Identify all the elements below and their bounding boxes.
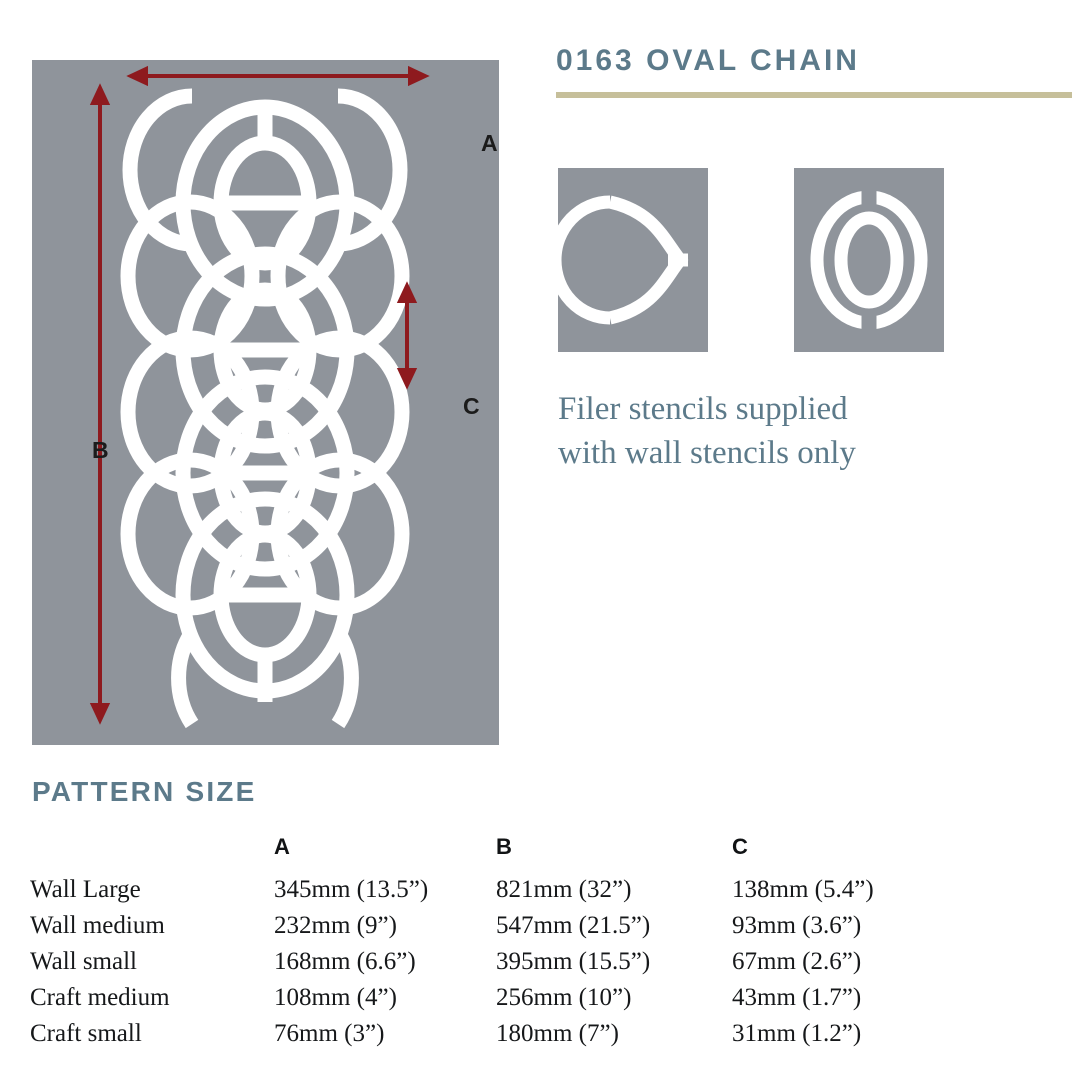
cell-b: 256mm (10”): [496, 980, 732, 1016]
pattern-size-table: A B C Wall Large 345mm (13.5”) 821mm (32…: [30, 834, 1060, 1052]
table-row: Wall Large 345mm (13.5”) 821mm (32”) 138…: [30, 872, 1060, 908]
title-block: 0163 OVAL CHAIN: [556, 44, 1072, 98]
cell-a: 345mm (13.5”): [274, 872, 496, 908]
cell-b: 180mm (7”): [496, 1016, 732, 1052]
table-row: Craft small 76mm (3”) 180mm (7”) 31mm (1…: [30, 1016, 1060, 1052]
column-header-b: B: [496, 834, 732, 872]
row-label: Wall medium: [30, 908, 274, 944]
cell-c: 138mm (5.4”): [732, 872, 1060, 908]
column-header-c: C: [732, 834, 1060, 872]
pattern-size-heading: PATTERN SIZE: [32, 776, 256, 808]
table-row: Craft medium 108mm (4”) 256mm (10”) 43mm…: [30, 980, 1060, 1016]
product-spec-sheet: A B C 0163 OVAL CHAIN: [0, 0, 1080, 1080]
table-row: Wall small 168mm (6.6”) 395mm (15.5”) 67…: [30, 944, 1060, 980]
row-label: Craft small: [30, 1016, 274, 1052]
oval-filler-icon: [794, 168, 944, 352]
filler-note: Filer stencils supplied with wall stenci…: [558, 388, 1058, 476]
row-label: Craft medium: [30, 980, 274, 1016]
cell-c: 31mm (1.2”): [732, 1016, 1060, 1052]
column-header-a: A: [274, 834, 496, 872]
dimension-label-c: C: [463, 393, 480, 420]
table-header-row: A B C: [30, 834, 1060, 872]
row-label: Wall small: [30, 944, 274, 980]
column-header-blank: [30, 834, 274, 872]
cell-a: 168mm (6.6”): [274, 944, 496, 980]
dimension-label-b: B: [92, 437, 109, 464]
cell-a: 76mm (3”): [274, 1016, 496, 1052]
table-row: Wall medium 232mm (9”) 547mm (21.5”) 93m…: [30, 908, 1060, 944]
cell-b: 395mm (15.5”): [496, 944, 732, 980]
stencil-diagram: A B C: [32, 60, 499, 745]
filler-note-line-2: with wall stencils only: [558, 432, 1058, 476]
title-divider: [556, 92, 1072, 98]
product-title: 0163 OVAL CHAIN: [556, 44, 1072, 78]
stencil-pattern-graphic: [32, 60, 499, 745]
cell-c: 43mm (1.7”): [732, 980, 1060, 1016]
half-circle-filler-icon: [558, 168, 708, 352]
cell-a: 108mm (4”): [274, 980, 496, 1016]
cell-c: 93mm (3.6”): [732, 908, 1060, 944]
filler-swatch-group: [558, 168, 944, 352]
filler-swatch-oval: [794, 168, 944, 352]
filler-swatch-half-circle: [558, 168, 708, 352]
cell-b: 547mm (21.5”): [496, 908, 732, 944]
filler-note-line-1: Filer stencils supplied: [558, 388, 1058, 432]
dimension-label-a: A: [481, 130, 498, 157]
cell-c: 67mm (2.6”): [732, 944, 1060, 980]
row-label: Wall Large: [30, 872, 274, 908]
cell-a: 232mm (9”): [274, 908, 496, 944]
cell-b: 821mm (32”): [496, 872, 732, 908]
